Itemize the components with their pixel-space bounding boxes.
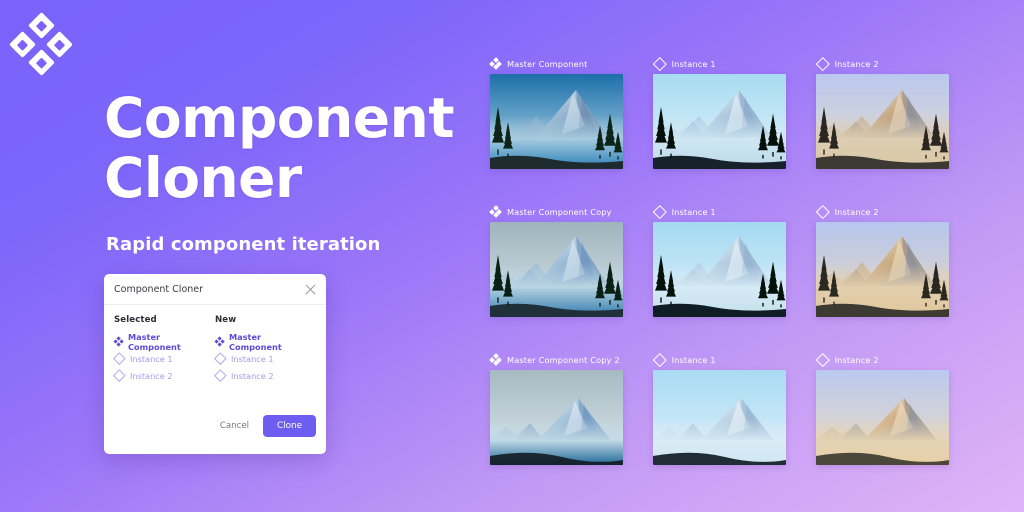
logo-diamond-right	[46, 31, 73, 58]
component-card[interactable]: Master Component Copy	[490, 204, 623, 340]
component-card[interactable]: Instance 1	[653, 56, 786, 192]
dialog-column-new: New Master Component Instance 1 Instance…	[215, 315, 316, 406]
component-card-label: Master Component Copy	[490, 204, 623, 219]
four-diamonds-logo-icon	[13, 16, 69, 72]
dialog-item-label: Instance 2	[231, 371, 274, 381]
page-title-line-1: Component	[104, 86, 454, 150]
component-card-label: Instance 1	[653, 352, 786, 367]
component-thumbnail[interactable]	[490, 370, 623, 465]
instance-diamond-icon	[816, 353, 830, 367]
component-card-label: Instance 1	[653, 56, 786, 71]
component-card[interactable]: Instance 1	[653, 352, 786, 488]
poster-canvas: ComponentCloner Rapid component iteratio…	[0, 0, 1024, 512]
master-component-icon	[114, 337, 123, 346]
dialog-item-label: Instance 1	[231, 354, 274, 364]
master-component-icon	[490, 206, 501, 217]
dialog-item-new-instance-1[interactable]: Instance 1	[215, 350, 316, 367]
component-card-label-text: Instance 1	[672, 59, 716, 69]
dialog-item-label: Instance 2	[130, 371, 173, 381]
component-card-label-text: Instance 2	[835, 59, 879, 69]
component-card-label-text: Instance 1	[672, 355, 716, 365]
component-card[interactable]: Instance 2	[816, 56, 949, 192]
logo-diamond-top	[28, 12, 55, 39]
master-component-icon	[215, 337, 224, 346]
dialog-title: Component Cloner	[114, 284, 304, 295]
component-thumbnail[interactable]	[653, 370, 786, 465]
component-card-label-text: Master Component Copy	[507, 207, 612, 217]
dialog-footer: Cancel Clone	[104, 406, 326, 454]
logo-diamond-bottom	[28, 49, 55, 76]
component-grid: Master Component Instance 1	[490, 56, 958, 488]
instance-diamond-icon	[113, 369, 125, 381]
dialog-item-selected-master[interactable]: Master Component	[114, 333, 215, 350]
cancel-button[interactable]: Cancel	[212, 416, 257, 436]
dialog-item-selected-instance-2[interactable]: Instance 2	[114, 367, 215, 384]
component-card[interactable]: Master Component Copy 2	[490, 352, 623, 488]
hero-text-block: ComponentCloner Rapid component iteratio…	[104, 88, 484, 255]
component-card-label: Master Component Copy 2	[490, 352, 623, 367]
dialog-item-label: Master Component	[128, 332, 215, 352]
column-heading-selected: Selected	[114, 315, 215, 325]
page-title-line-2: Cloner	[104, 146, 302, 210]
dialog-item-label: Instance 1	[130, 354, 173, 364]
page-title: ComponentCloner	[104, 88, 484, 208]
component-cloner-dialog: Component Cloner Selected Master Compone…	[104, 274, 326, 454]
dialog-item-selected-instance-1[interactable]: Instance 1	[114, 350, 215, 367]
dialog-body: Selected Master Component Instance 1 Ins…	[104, 305, 326, 406]
dialog-header: Component Cloner	[104, 274, 326, 305]
clone-button[interactable]: Clone	[263, 415, 316, 437]
component-thumbnail[interactable]	[653, 222, 786, 317]
component-thumbnail[interactable]	[490, 222, 623, 317]
dialog-column-selected: Selected Master Component Instance 1 Ins…	[114, 315, 215, 406]
instance-diamond-icon	[113, 352, 125, 364]
component-card-label-text: Master Component	[507, 59, 588, 69]
component-thumbnail[interactable]	[816, 222, 949, 317]
component-card[interactable]: Instance 2	[816, 204, 949, 340]
component-card-label: Instance 2	[816, 204, 949, 219]
component-card-label: Instance 2	[816, 352, 949, 367]
component-thumbnail[interactable]	[653, 74, 786, 169]
instance-diamond-icon	[653, 205, 667, 219]
component-card[interactable]: Instance 1	[653, 204, 786, 340]
instance-diamond-icon	[214, 369, 226, 381]
master-component-icon	[490, 58, 501, 69]
instance-diamond-icon	[653, 353, 667, 367]
page-subtitle: Rapid component iteration	[106, 234, 484, 255]
component-card-label: Instance 2	[816, 56, 949, 71]
instance-diamond-icon	[653, 57, 667, 71]
component-thumbnail[interactable]	[816, 370, 949, 465]
component-card[interactable]: Master Component	[490, 56, 623, 192]
dialog-item-label: Master Component	[229, 332, 316, 352]
column-heading-new: New	[215, 315, 316, 325]
component-card[interactable]: Instance 2	[816, 352, 949, 488]
close-icon[interactable]	[304, 283, 317, 296]
logo-diamond-left	[9, 31, 36, 58]
instance-diamond-icon	[214, 352, 226, 364]
component-thumbnail[interactable]	[816, 74, 949, 169]
component-card-label: Master Component	[490, 56, 623, 71]
master-component-icon	[490, 354, 501, 365]
dialog-item-new-instance-2[interactable]: Instance 2	[215, 367, 316, 384]
component-card-label: Instance 1	[653, 204, 786, 219]
component-card-label-text: Instance 2	[835, 355, 879, 365]
instance-diamond-icon	[816, 205, 830, 219]
dialog-item-new-master[interactable]: Master Component	[215, 333, 316, 350]
component-thumbnail[interactable]	[490, 74, 623, 169]
component-card-label-text: Instance 2	[835, 207, 879, 217]
component-card-label-text: Master Component Copy 2	[507, 355, 620, 365]
instance-diamond-icon	[816, 57, 830, 71]
component-card-label-text: Instance 1	[672, 207, 716, 217]
